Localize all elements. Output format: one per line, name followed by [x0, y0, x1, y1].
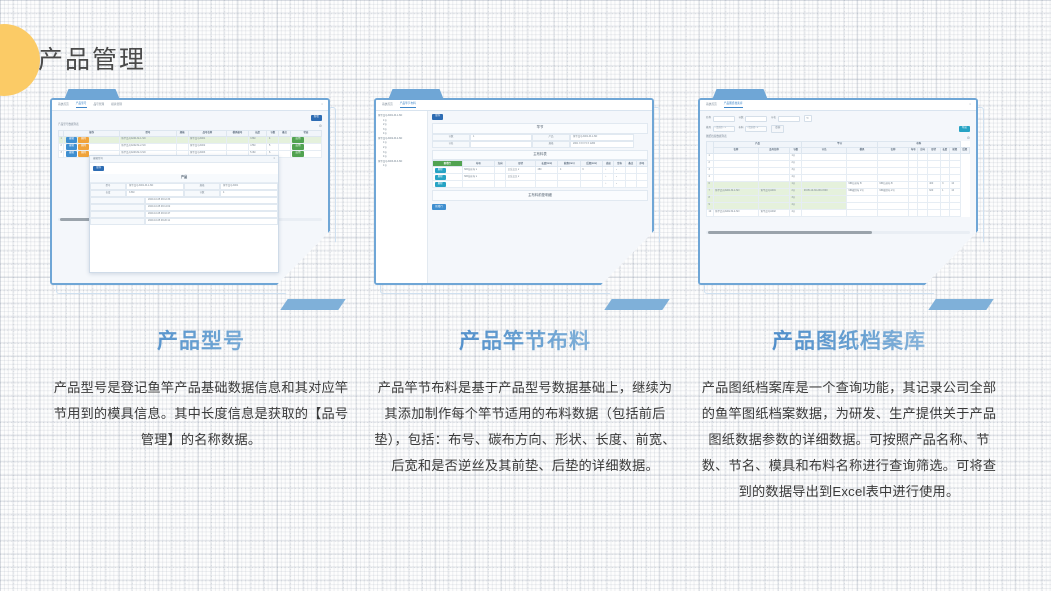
detail-value: 2020-10-05 09:12:33 — [145, 197, 278, 204]
cell-reverse[interactable]: ○ — [603, 174, 614, 181]
row-index: 7 — [707, 188, 714, 195]
search-button[interactable]: 查询 — [771, 125, 784, 133]
table-row[interactable]: 8 3节 — [707, 195, 970, 202]
cell-blank[interactable]: ▪ — [614, 167, 625, 174]
panel-label: 产品型号数据列表 — [58, 124, 79, 127]
table-row[interactable]: 7 鱼竿品号A001-M-1-SN 鱼竿品号A001 2节 ZC05-10-30… — [707, 188, 970, 195]
fabric-select[interactable]: --请选择-- ▾ — [745, 126, 767, 132]
filter-sectionname: 节名 — [771, 116, 800, 122]
card-body-text: 产品竿节布料是基于产品型号数据基础上，继续为其添加制作每个竿节适用的布料数据（包… — [374, 375, 676, 479]
shot-tab-item-mgmt[interactable]: 品号管理 — [94, 103, 105, 107]
cell-sections: 4 — [267, 136, 279, 143]
card-rod-section-fabric: 系统首页 产品竿节布料 鱼竿品号A001-M-1-SN 1节 2节 3节 4节 … — [374, 98, 676, 479]
table-row[interactable]: 2 2节 — [707, 160, 970, 167]
shot-tab-mold-mgmt[interactable]: 模具管理 — [111, 103, 122, 107]
cell-frontwidth: 1 — [940, 188, 949, 195]
cell-fabricno[interactable]: MR拉丝布 ▾ — [462, 167, 494, 174]
field-label: 型号 — [90, 183, 126, 190]
cell-fabricno[interactable] — [462, 181, 494, 188]
cell-model: 鱼竿品号A002-M-2-SN — [119, 143, 176, 150]
cell-status: 启用 — [290, 136, 321, 143]
modal-detail-row: 2020-10-05 09:12:33 — [90, 197, 278, 204]
card-body-text: 产品图纸档案库是一个查询功能，其记录公司全部的鱼竿图纸档案数据，为研发、生产提供… — [698, 375, 1000, 505]
drawing-archive-table: 产品 竿节 布料 名称 品号名称 节数 节名 模具 名称 — [706, 141, 970, 217]
cell-shape[interactable]: 正反交叉 ▾ — [506, 174, 536, 181]
app-screenshot-rod-fabric: 系统首页 产品竿节布料 鱼竿品号A001-M-1-SN 1节 2节 3节 4节 … — [376, 100, 652, 283]
filter-fabric: 布料 --请选择-- ▾ — [739, 126, 768, 132]
cell-frontwidth[interactable] — [558, 181, 580, 188]
shot-tabbar: 系统首页 产品竿节布料 — [376, 100, 652, 111]
cell-length: 3.6M — [248, 136, 267, 143]
cell-direction[interactable] — [495, 174, 506, 181]
row-action[interactable]: 删除 — [433, 174, 463, 181]
field-label: 节名 — [432, 141, 470, 148]
cell-backwidth: 10 — [949, 181, 960, 188]
row-index: 10 — [707, 209, 714, 216]
cell-direction[interactable] — [495, 181, 506, 188]
modal-form-row: 型号 鱼竿品号A001-M-1-SN 规格 鱼竿品号A001 — [90, 183, 278, 190]
frame-inner-border: 系统首页 产品图纸档案库 × 名称 节数 — [698, 98, 978, 285]
modal-close-icon[interactable]: × — [274, 158, 275, 161]
cell-sections: 4节 — [789, 202, 801, 209]
field-value[interactable]: 2001 X 8 X 5 X 12#0 — [570, 141, 634, 148]
page-title: 产品管理 — [38, 42, 146, 78]
card-drawing-archive: 系统首页 产品图纸档案库 × 名称 节数 — [698, 98, 1000, 505]
cell-backwidth: 10 — [949, 188, 960, 195]
cell-length[interactable] — [536, 174, 558, 181]
row-action[interactable]: 删除 — [433, 181, 463, 188]
modal-title-label: 编辑型号 — [93, 158, 103, 161]
delete-button[interactable]: 删除 — [78, 137, 89, 143]
cell-sections: 1节 — [789, 181, 801, 188]
cell-sections: 2节 — [789, 188, 801, 195]
detail-value: 2020-10-05 09:16:47 — [145, 211, 278, 218]
field-label: 产品 — [532, 134, 570, 141]
detail-value: 2020-10-05 09:20:11 — [145, 218, 278, 225]
modal-detail-row: 2020-10-05 09:16:47 — [90, 211, 278, 218]
mold-select[interactable]: --请选择-- ▾ — [713, 126, 735, 132]
delete-button[interactable]: 删除 — [78, 151, 89, 157]
modal-detail-row: 2020-10-05 09:14:02 — [90, 204, 278, 211]
cell-itemname: 鱼竿品号A002 — [188, 143, 227, 150]
shot-tab-home[interactable]: 系统首页 — [706, 103, 717, 107]
section-title-fabric: 主布料表 — [432, 150, 648, 161]
table-row[interactable]: 6 1节 MR拉丝布 B MR拉丝布 B 400 3 10 — [707, 181, 970, 188]
cell-itemname: 鱼竿品号A002 — [759, 209, 790, 216]
screenshot-frame: 系统首页 产品型号 品号管理 模具管理 × 新增 产品型号数据列表 ⚙ — [50, 98, 336, 294]
cell-frontwidth[interactable]: 4 — [558, 167, 580, 174]
cell-status: 启用 — [290, 150, 321, 157]
card-product-model: 系统首页 产品型号 品号管理 模具管理 × 新增 产品型号数据列表 ⚙ — [50, 98, 352, 453]
cell-name: 鱼竿品号A001-M-1-SN — [713, 188, 758, 195]
field-label: 长度 — [90, 190, 126, 197]
save-button[interactable]: 保存 — [432, 114, 443, 120]
row-index: 3 — [707, 167, 714, 174]
cards-container: 系统首页 产品型号 品号管理 模具管理 × 新增 产品型号数据列表 ⚙ — [0, 0, 1051, 591]
filter-label: 节数 — [739, 117, 744, 120]
sectionname-input[interactable] — [778, 116, 800, 122]
field-value[interactable]: 1 — [470, 134, 532, 141]
search-input[interactable] — [713, 116, 735, 122]
cell-remark[interactable] — [625, 181, 636, 188]
card-heading: 产品型号 — [50, 329, 352, 355]
table-row[interactable]: 3 3节 — [707, 167, 970, 174]
add-button[interactable]: 新增 — [311, 115, 322, 121]
product-model-table: 操作 型号 规格 品号名称 模具编号 长度 节数 备注 状态 — [58, 130, 322, 158]
field-value[interactable]: 3.6M — [126, 190, 184, 197]
frame-inner-border: 系统首页 产品竿节布料 鱼竿品号A001-M-1-SN 1节 2节 3节 4节 … — [374, 98, 654, 285]
pad-add-button[interactable]: 新增行 — [432, 204, 446, 210]
cell-length[interactable] — [536, 181, 558, 188]
table-row[interactable]: 4 4节 — [707, 174, 970, 181]
field-value[interactable]: 鱼竿品号A001-M-1-SN — [126, 183, 184, 190]
row-index: 8 — [707, 195, 714, 202]
filter-label: 布料 — [739, 127, 744, 130]
cell-sections: 3节 — [789, 167, 801, 174]
panel-label: 图纸档案数据列表 — [706, 136, 727, 139]
field-value[interactable]: 4 — [220, 190, 278, 197]
frame-accent-bar — [604, 299, 669, 310]
modal-form-row: 长度 3.6M 节数 4 — [90, 190, 278, 197]
cell-sections: 2节 — [789, 160, 801, 167]
filter-label: 名称 — [706, 117, 711, 120]
row-index: 1 — [707, 153, 714, 160]
cell-seq[interactable] — [636, 167, 647, 174]
edit-button[interactable]: 编辑 — [66, 151, 77, 157]
fabric-table: 新增行 布号 方向 形状 长度(mm) 前宽(mm) 后宽(mm) 逆丝 空布 — [432, 160, 648, 188]
table-row[interactable]: 删除 MR拉丝布 ▾ 正反交叉 ▾ ○ ▪ — [433, 174, 648, 181]
cell-backwidth[interactable]: 6 — [580, 167, 602, 174]
filter-mold: 模具 --请选择-- ▾ — [706, 126, 735, 132]
filter-name: 名称 — [706, 116, 735, 122]
cell-fabricno: MR拉丝布 B — [878, 181, 909, 188]
card-body-text: 产品型号是登记鱼竿产品基础数据信息和其对应竿节用到的模具信息。其中长度信息是获取… — [50, 375, 352, 453]
modal-save-button[interactable]: 保存 — [93, 166, 104, 172]
table-row[interactable]: 删除 MR拉丝布 ▾ 正反交叉 ▾ 480 4 6 ○ ▪ — [433, 167, 648, 174]
shot-tabbar: 系统首页 产品图纸档案库 × — [700, 100, 976, 111]
delete-button[interactable]: 删除 — [78, 144, 89, 150]
gear-icon[interactable]: ⚙ — [967, 136, 970, 140]
cell-backwidth[interactable] — [580, 174, 602, 181]
row-actions[interactable]: 编辑 删除 — [64, 136, 120, 143]
cell-reverse[interactable]: ○ — [603, 181, 614, 188]
row-index: 2 — [707, 160, 714, 167]
close-icon[interactable]: × — [321, 103, 323, 106]
cell-remark[interactable] — [625, 174, 636, 181]
filter-label: 节名 — [771, 117, 776, 120]
cell-direction[interactable] — [495, 167, 506, 174]
section-title-rod: 竿节 — [432, 123, 648, 134]
tree-node[interactable]: 1节 — [378, 164, 425, 169]
app-screenshot-drawing-archive: 系统首页 产品图纸档案库 × 名称 节数 — [700, 100, 976, 283]
shot-tab-drawing-archive[interactable]: 产品图纸档案库 — [724, 102, 743, 107]
row-index: 6 — [707, 181, 714, 188]
close-icon[interactable]: × — [969, 103, 971, 106]
screenshot-frame: 系统首页 产品图纸档案库 × 名称 节数 — [698, 98, 984, 294]
table-row[interactable]: 2 编辑 删除 鱼竿品号A002-M-2-SN 鱼竿品号A002 4.5M — [59, 143, 322, 150]
cell-mold: ZC05-10-30-230-1500 — [802, 188, 847, 195]
cell-remark[interactable] — [625, 167, 636, 174]
cell-length: 620 — [927, 188, 940, 195]
cell-sections: 4节 — [789, 209, 801, 216]
cell-fabricname: MR碳纤布 2号 — [846, 188, 877, 195]
cell-name: 鱼竿品号A002-M-2-SN — [713, 209, 758, 216]
cell-seq[interactable] — [636, 174, 647, 181]
cell-status: 启用 — [290, 143, 321, 150]
table-row[interactable]: 9 4节 — [707, 202, 970, 209]
cell-length: 400 — [927, 181, 940, 188]
screenshot-frame: 系统首页 产品竿节布料 鱼竿品号A001-M-1-SN 1节 2节 3节 4节 … — [374, 98, 660, 294]
table-row[interactable]: 删除 ○ ▪ — [433, 181, 648, 188]
cell-sections: 5 — [267, 143, 279, 150]
cell-sections: 1节 — [789, 153, 801, 160]
export-button[interactable]: 导出 — [959, 126, 970, 132]
modal-detail-row: 2020-10-05 09:20:11 — [90, 218, 278, 225]
field-label: 节数 — [432, 134, 470, 141]
cell-frontwidth: 3 — [940, 181, 949, 188]
sections-input[interactable] — [745, 116, 767, 122]
cell-sections: 3节 — [789, 195, 801, 202]
table-row[interactable]: 1 编辑 删除 鱼竿品号A001-M-1-SN 鱼竿品号A001 3.6M — [59, 136, 322, 143]
cell-backwidth[interactable] — [580, 181, 602, 188]
edit-button[interactable]: 编辑 — [66, 144, 77, 150]
modal-section-title: 产品 — [90, 174, 278, 184]
cell-seq[interactable] — [636, 181, 647, 188]
field-label: 节数 — [184, 190, 220, 197]
filter-row-1: 名称 节数 节名 ↻ — [706, 115, 970, 122]
field-label: 规格 — [532, 141, 570, 148]
detail-value: 2020-10-05 09:14:02 — [145, 204, 278, 211]
field-value[interactable]: 鱼竿品号A001-M-1-SN — [570, 134, 634, 141]
cell-itemname: 鱼竿品号A001 — [759, 188, 790, 195]
col-backwidth: 后宽 — [960, 147, 969, 153]
cell-length[interactable]: 480 — [536, 167, 558, 174]
field-label: 规格 — [184, 183, 220, 190]
filter-row-2: 模具 --请选择-- ▾ 布料 --请选择-- ▾ 查询 导出 — [706, 125, 970, 133]
form-row: 节名 规格 2001 X 8 X 5 X 12#0 — [432, 141, 648, 148]
cell-model: 鱼竿品号A001-M-1-SN — [119, 136, 176, 143]
row-actions[interactable]: 编辑 删除 — [64, 143, 120, 150]
form-row: 节数 1 产品 鱼竿品号A001-M-1-SN — [432, 134, 648, 141]
modal-titlebar: 编辑型号 × — [90, 156, 278, 163]
cell-length: 4.5M — [248, 143, 267, 150]
filter-sections: 节数 — [739, 116, 768, 122]
row-action[interactable]: 删除 — [433, 167, 463, 174]
shot-content: 鱼竿品号A001-M-1-SN 1节 2节 3节 4节 鱼竿品号A002-M-2… — [376, 111, 652, 283]
shot-content: 名称 节数 节名 ↻ — [700, 111, 976, 238]
frame-inner-border: 系统首页 产品型号 品号管理 模具管理 × 新增 产品型号数据列表 ⚙ — [50, 98, 330, 285]
card-heading: 产品图纸档案库 — [698, 329, 1000, 355]
table-row[interactable]: 1 1节 — [707, 153, 970, 160]
row-index: 4 — [707, 174, 714, 181]
cell-reverse[interactable]: ○ — [603, 167, 614, 174]
cell-fabricno: MR碳纤布 2号 — [878, 188, 909, 195]
gear-icon[interactable]: ⚙ — [319, 124, 322, 128]
field-value[interactable] — [470, 141, 532, 148]
cell-fabricno[interactable]: MR拉丝布 ▾ — [462, 174, 494, 181]
cell-fabricname: MR拉丝布 B — [846, 181, 877, 188]
shot-tab-rod-fabric[interactable]: 产品竿节布料 — [400, 102, 416, 107]
shot-tab-product-model[interactable]: 产品型号 — [76, 102, 87, 107]
product-tree[interactable]: 鱼竿品号A001-M-1-SN 1节 2节 3节 4节 鱼竿品号A002-M-2… — [376, 111, 428, 283]
horizontal-scrollbar[interactable] — [706, 231, 970, 234]
field-value[interactable]: 鱼竿品号A001 — [220, 183, 278, 190]
edit-model-modal: 编辑型号 × 保存 产品 型号 鱼竿品号A001-M-1-SN 规格 鱼竿品号A… — [89, 155, 279, 273]
section-title-pad: 主布料前垫明细 — [432, 190, 648, 201]
cell-itemname: 鱼竿品号A001 — [188, 136, 227, 143]
frame-accent-bar — [928, 299, 993, 310]
table-row[interactable]: 10 鱼竿品号A002-M-2-SN 鱼竿品号A002 4节 — [707, 209, 970, 216]
cell-sections: 4节 — [789, 174, 801, 181]
filter-label: 模具 — [706, 127, 711, 130]
cell-shape[interactable] — [506, 181, 536, 188]
shot-tab-home[interactable]: 系统首页 — [58, 103, 69, 107]
cell-shape[interactable]: 正反交叉 ▾ — [506, 167, 536, 174]
refresh-icon[interactable]: ↻ — [804, 115, 812, 122]
app-screenshot-product-model: 系统首页 产品型号 品号管理 模具管理 × 新增 产品型号数据列表 ⚙ — [52, 100, 328, 283]
shot-tab-home[interactable]: 系统首页 — [382, 103, 393, 107]
cell-frontwidth[interactable] — [558, 174, 580, 181]
card-heading: 产品竿节布料 — [374, 329, 676, 355]
row-index: 9 — [707, 202, 714, 209]
cell-blank[interactable]: ▪ — [614, 181, 625, 188]
edit-button[interactable]: 编辑 — [66, 137, 77, 143]
frame-accent-bar — [280, 299, 345, 310]
cell-blank[interactable]: ▪ — [614, 174, 625, 181]
shot-tabbar: 系统首页 产品型号 品号管理 模具管理 × — [52, 100, 328, 111]
